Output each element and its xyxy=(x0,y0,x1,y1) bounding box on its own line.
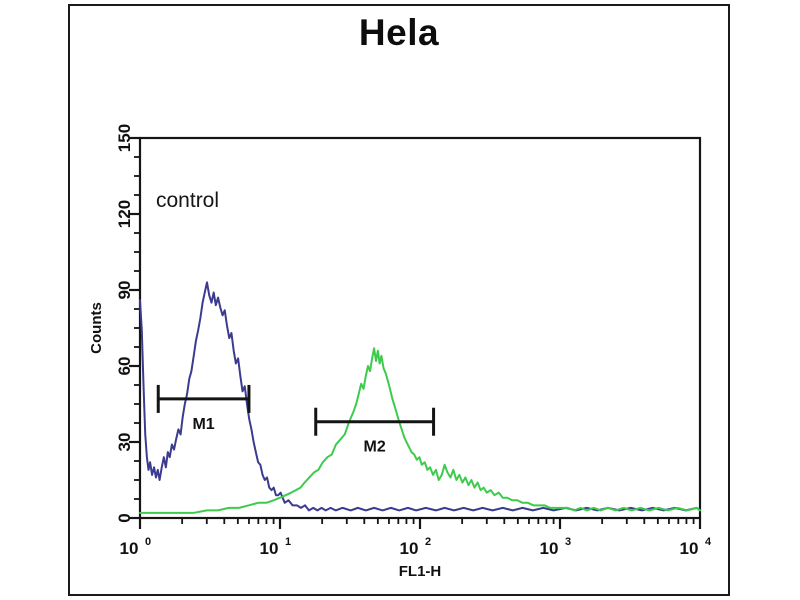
x-tick-exponent: 2 xyxy=(425,536,431,548)
x-tick-label: 10 xyxy=(680,539,699,558)
y-tick-label: 120 xyxy=(115,200,134,228)
x-tick-label: 10 xyxy=(260,539,279,558)
y-tick-label: 60 xyxy=(115,357,134,376)
flow-cytometry-figure: Hela 0306090120150 100101102103104 M1M2 … xyxy=(0,0,800,600)
gate-marker-M1[interactable]: M1 xyxy=(158,385,249,433)
x-tick-exponent: 4 xyxy=(705,536,712,548)
histogram-curve-sample xyxy=(140,348,700,513)
x-tick-label: 10 xyxy=(120,539,139,558)
y-axis: 0306090120150 xyxy=(115,124,140,523)
x-tick-label: 10 xyxy=(400,539,419,558)
x-tick-exponent: 1 xyxy=(285,536,291,548)
y-tick-label: 150 xyxy=(115,124,134,152)
y-axis-title: Counts xyxy=(88,302,105,354)
histogram-plot: 0306090120150 100101102103104 M1M2 Count… xyxy=(0,0,800,600)
gate-label: M1 xyxy=(192,416,214,433)
x-axis-title: FL1-H xyxy=(399,563,442,580)
y-tick-label: 0 xyxy=(115,513,134,522)
y-tick-label: 90 xyxy=(115,281,134,300)
gate-label: M2 xyxy=(364,439,386,456)
x-tick-label: 10 xyxy=(540,539,559,558)
x-tick-exponent: 3 xyxy=(565,536,571,548)
y-tick-label: 30 xyxy=(115,433,134,452)
control-annotation: control xyxy=(156,189,219,212)
x-tick-exponent: 0 xyxy=(145,536,151,548)
x-axis: 100101102103104 xyxy=(120,518,712,558)
histogram-curve-control xyxy=(140,282,700,510)
